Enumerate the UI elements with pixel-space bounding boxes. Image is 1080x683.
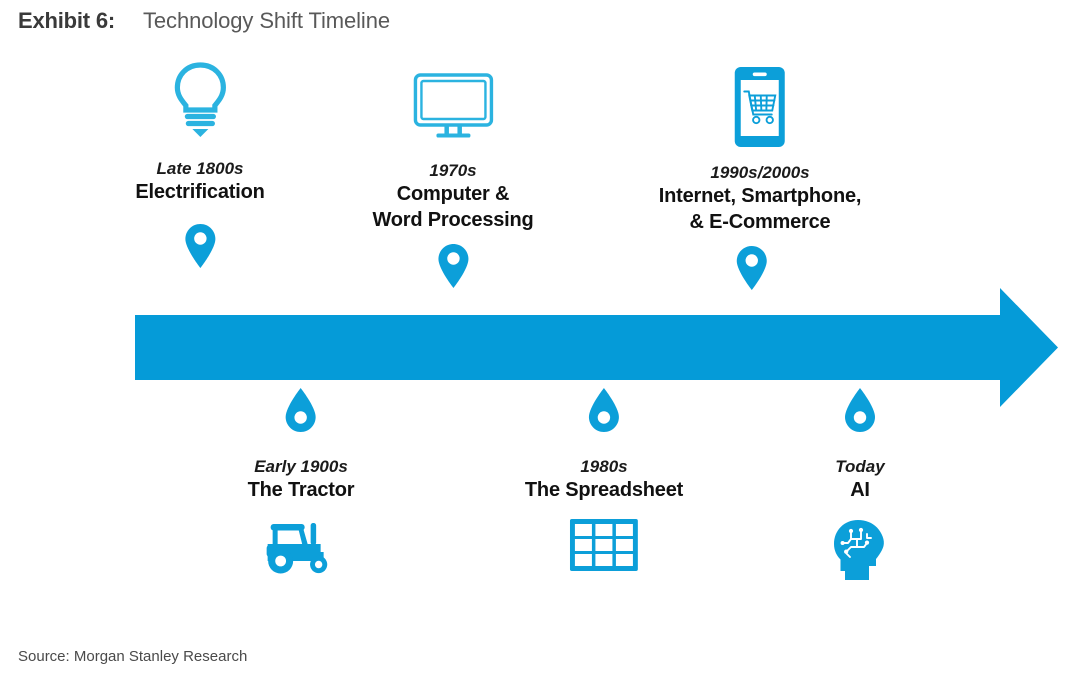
node-name: Computer & Word Processing: [372, 181, 533, 233]
node-name: The Spreadsheet: [525, 477, 683, 503]
map-pin-down-icon: [184, 223, 216, 274]
timeline-node-spreadsheet: 1980s The Spreadsheet: [525, 387, 683, 571]
tractor-icon: [258, 519, 344, 575]
node-name: Internet, Smartphone, & E-Commerce: [659, 183, 862, 235]
map-pin-up-icon: [285, 387, 317, 438]
node-date: Late 1800s: [135, 158, 264, 179]
node-label-group: Late 1800s Electrification: [135, 158, 264, 205]
node-date: Today: [835, 456, 884, 477]
timeline-node-ai: Today AI: [831, 387, 889, 581]
node-name: Electrification: [135, 179, 264, 205]
source-note: Source: Morgan Stanley Research: [18, 648, 247, 665]
node-label-group: 1990s/2000s Internet, Smartphone, & E-Co…: [659, 162, 862, 235]
node-label-group: 1970s Computer & Word Processing: [372, 160, 533, 233]
map-pin-up-icon: [844, 387, 876, 438]
node-date: 1980s: [525, 456, 683, 477]
node-date: 1990s/2000s: [659, 162, 862, 183]
timeline-node-internet: 1990s/2000s Internet, Smartphone, & E-Co…: [659, 66, 862, 296]
timeline-node-electrification: Late 1800s Electrification: [135, 60, 264, 274]
timeline-diagram: Late 1800s Electrification: [0, 0, 1080, 640]
map-pin-up-icon: [588, 387, 620, 438]
spreadsheet-icon: [570, 519, 638, 571]
node-label-group: Today AI: [835, 456, 884, 503]
ai-head-icon: [831, 519, 889, 581]
map-pin-down-icon: [437, 243, 469, 294]
timeline-node-tractor: Early 1900s The Tractor: [248, 387, 355, 575]
map-pin-down-icon: [736, 245, 768, 296]
node-date: Early 1900s: [248, 456, 355, 477]
timeline-node-computer: 1970s Computer & Word Processing: [372, 72, 533, 294]
lightbulb-icon: [168, 60, 232, 138]
node-label-group: Early 1900s The Tractor: [248, 456, 355, 503]
monitor-icon: [412, 72, 494, 138]
smartphone-cart-icon: [734, 66, 786, 148]
node-date: 1970s: [372, 160, 533, 181]
node-label-group: 1980s The Spreadsheet: [525, 456, 683, 503]
node-name: AI: [835, 477, 884, 503]
node-name: The Tractor: [248, 477, 355, 503]
